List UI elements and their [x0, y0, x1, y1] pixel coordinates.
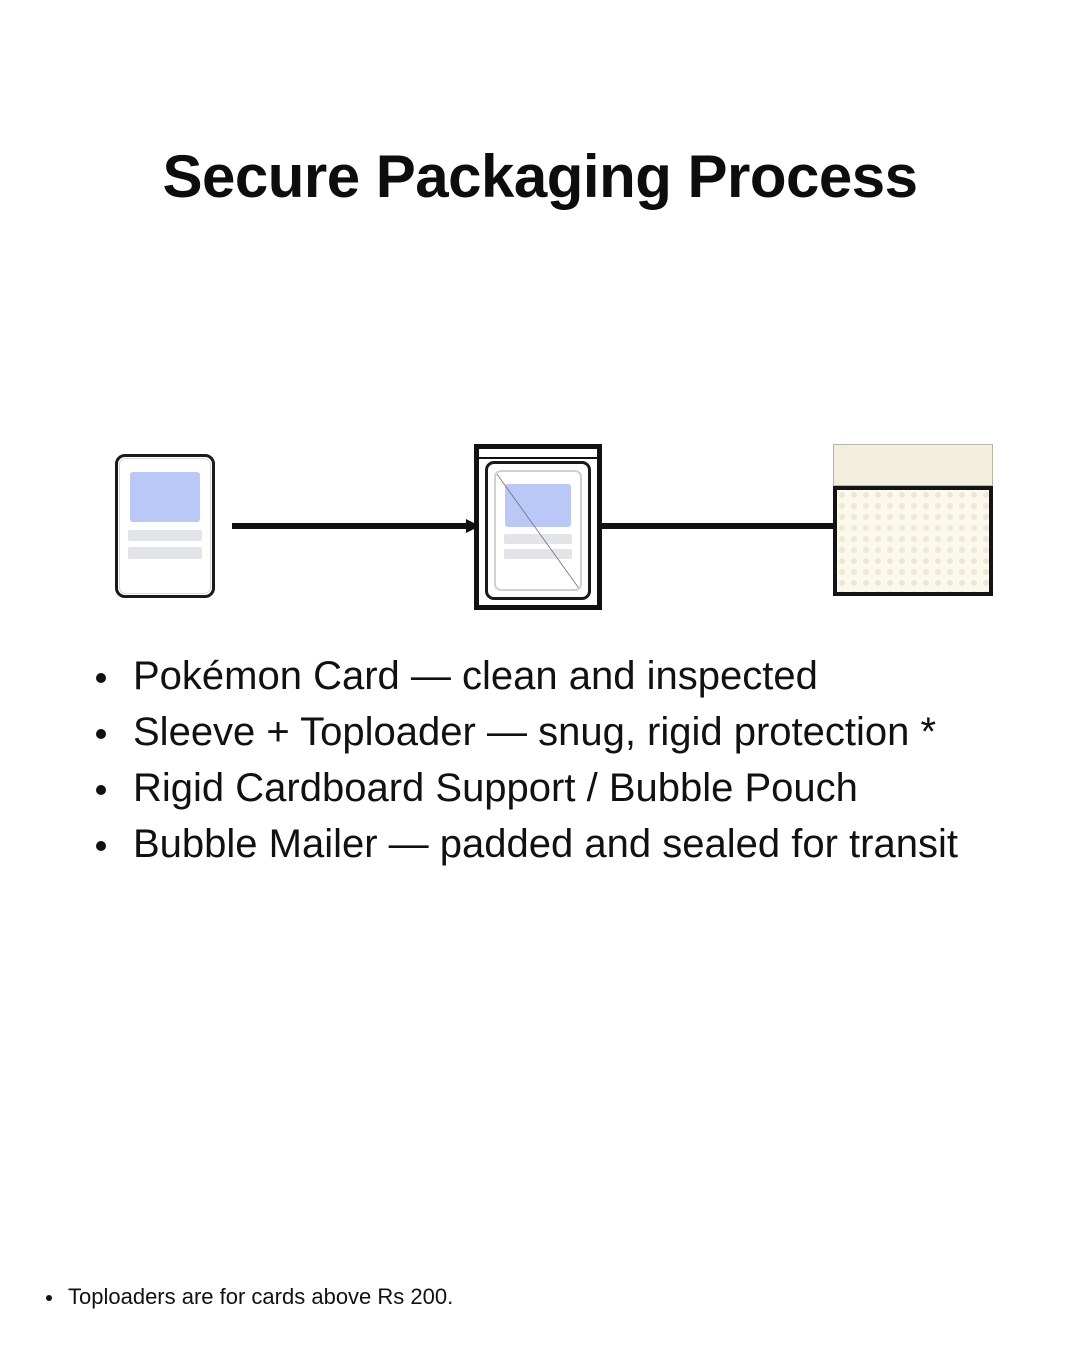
page-title: Secure Packaging Process — [0, 144, 1080, 210]
card-face — [119, 458, 211, 594]
card-face-in-sleeve — [494, 470, 582, 591]
footnote-text: Toploaders are for cards above Rs 200. — [42, 1282, 968, 1312]
toploader-lip — [479, 457, 597, 459]
arrow-card-to-toploader-icon — [232, 517, 480, 535]
packaging-steps-list: Pokémon Card — clean and inspected Sleev… — [88, 648, 1048, 872]
list-item: Rigid Cardboard Support / Bubble Pouch — [88, 760, 1048, 816]
packaging-process-diagram — [0, 432, 1080, 622]
mailer-flap — [833, 444, 993, 486]
arrow-toploader-to-mailer-icon — [602, 517, 850, 535]
arrow-shaft — [602, 523, 838, 529]
bubble-wrap-texture — [837, 490, 989, 592]
stage-pokemon-card — [115, 454, 215, 598]
card-text-bar-2 — [128, 547, 202, 558]
stage-sleeve-toploader — [474, 444, 602, 610]
list-item: Sleeve + Toploader — snug, rigid protect… — [88, 704, 1048, 760]
list-item: Bubble Mailer — padded and sealed for tr… — [88, 816, 1048, 872]
card-text-bar-1 — [128, 530, 202, 541]
card-artwork-block — [130, 472, 200, 522]
sleeve-shine-line-icon — [494, 470, 581, 591]
list-item: Pokémon Card — clean and inspected — [88, 648, 1048, 704]
arrow-shaft — [232, 523, 468, 529]
sleeve-outline — [485, 461, 591, 600]
mailer-body — [833, 486, 993, 596]
stage-bubble-mailer — [833, 444, 993, 596]
